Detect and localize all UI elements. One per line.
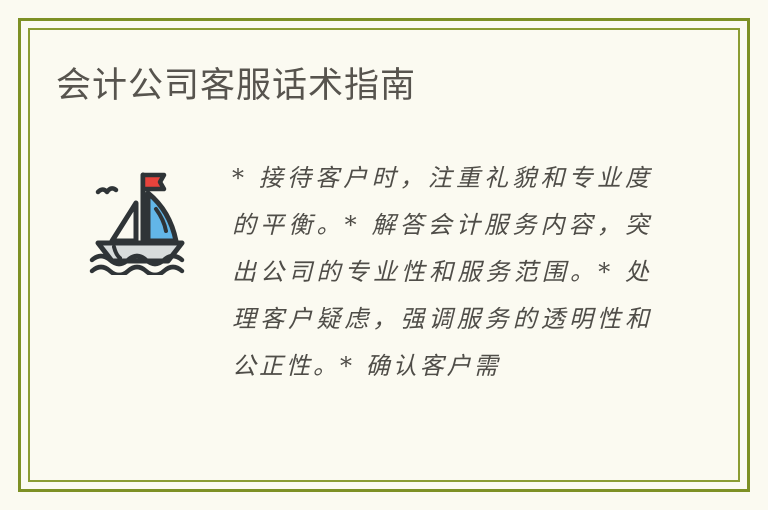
page-title: 会计公司客服话术指南: [56, 62, 416, 110]
sailboat-icon: [86, 163, 194, 275]
poster-canvas: 会计公司客服话术指南 *: [0, 0, 768, 510]
body-text: * 接待客户时，注重礼貌和专业度的平衡。* 解答会计服务内容，突出公司的专业性和…: [232, 155, 652, 390]
content-row: * 接待客户时，注重礼貌和专业度的平衡。* 解答会计服务内容，突出公司的专业性和…: [56, 155, 712, 462]
